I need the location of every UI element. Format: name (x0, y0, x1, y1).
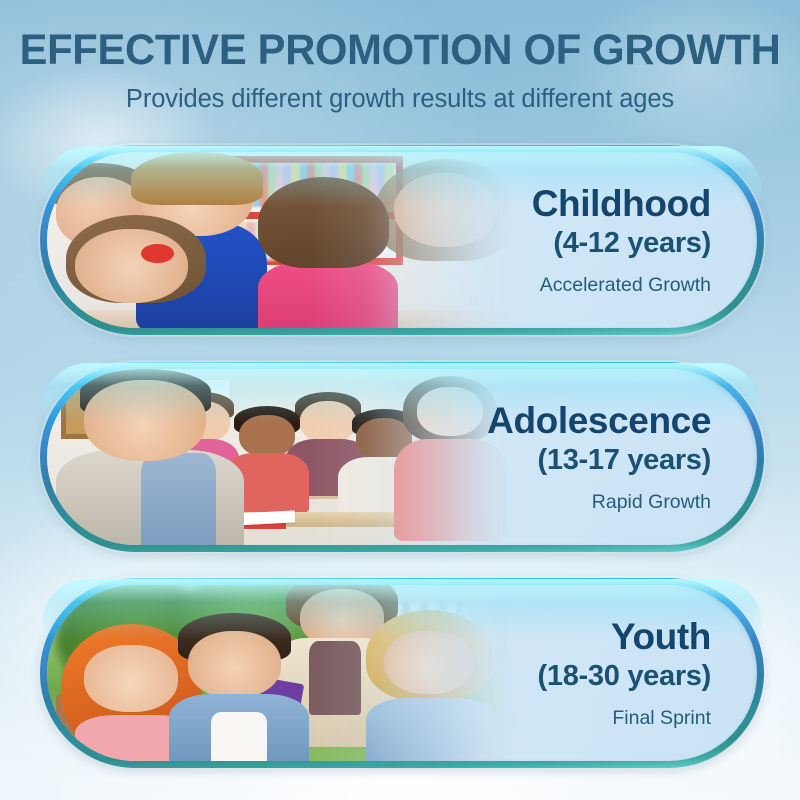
stage-age-range: (4-12 years) (553, 226, 711, 260)
stage-card-adolescence[interactable]: Adolescence (13-17 years) Rapid Growth (40, 362, 764, 552)
card-inner-panel: Adolescence (13-17 years) Rapid Growth (47, 369, 757, 545)
stage-name: Childhood (532, 183, 711, 225)
stage-name: Youth (611, 616, 711, 658)
stage-effect-label: Rapid Growth (592, 490, 711, 514)
stage-age-range: (18-30 years) (538, 659, 711, 693)
stage-card-youth[interactable]: Youth (18-30 years) Final Sprint (40, 578, 764, 768)
card-inner-panel: Youth (18-30 years) Final Sprint (47, 585, 757, 761)
stage-effect-label: Accelerated Growth (540, 273, 711, 297)
stage-age-range: (13-17 years) (538, 443, 711, 477)
stage-effect-label: Final Sprint (612, 706, 711, 730)
stage-name: Adolescence (487, 400, 711, 442)
page-subtitle: Provides different growth results at dif… (0, 73, 800, 114)
page-title: EFFECTIVE PROMOTION OF GROWTH (12, 0, 788, 73)
poster-header: EFFECTIVE PROMOTION OF GROWTH Provides d… (0, 0, 800, 114)
stage-text-adolescence: Adolescence (13-17 years) Rapid Growth (391, 369, 711, 545)
growth-infographic-poster: EFFECTIVE PROMOTION OF GROWTH Provides d… (0, 0, 800, 800)
stage-text-childhood: Childhood (4-12 years) Accelerated Growt… (391, 152, 711, 328)
stage-text-youth: Youth (18-30 years) Final Sprint (391, 585, 711, 761)
card-inner-panel: Childhood (4-12 years) Accelerated Growt… (47, 152, 757, 328)
stage-card-childhood[interactable]: Childhood (4-12 years) Accelerated Growt… (40, 145, 764, 335)
